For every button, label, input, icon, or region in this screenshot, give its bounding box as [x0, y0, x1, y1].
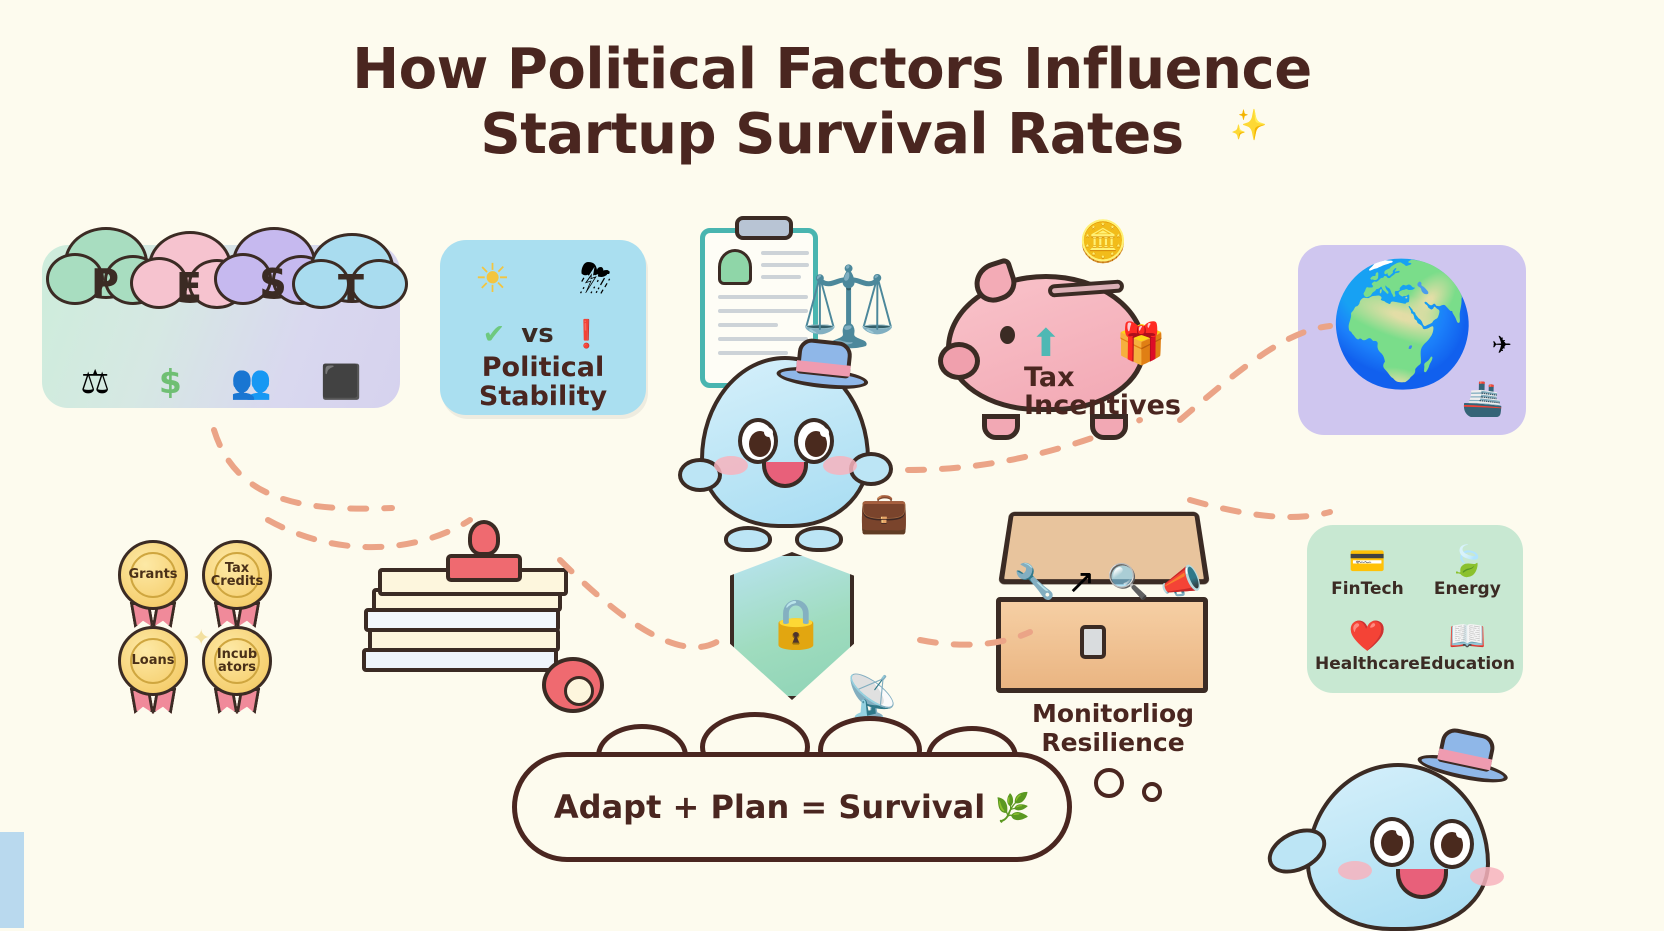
corner-mascot-right-eye	[1430, 819, 1474, 869]
mascot-right-eye	[794, 418, 834, 464]
leaf-icon: 🍃	[1449, 547, 1486, 577]
coin-icon: 🪙	[1078, 222, 1128, 262]
cargo-ship-icon: 🚢	[1462, 379, 1504, 419]
political-stability-card[interactable]: ☀ ⛈ ✔ vs ❗ Political Stability	[440, 240, 646, 415]
corner-mascot-left-cheek	[1338, 861, 1372, 880]
gavel-icon: ⚖	[80, 365, 110, 398]
sector-label: Education	[1420, 654, 1515, 674]
title-line-2: Startup Survival Rates	[480, 102, 1183, 167]
badge-label: Loans	[118, 626, 188, 696]
credit-card-icon: 💳	[1349, 547, 1386, 577]
clipboard-clip-icon	[735, 216, 793, 240]
pest-framework-card[interactable]: P E S T ⚖ $ 👥	[42, 245, 400, 408]
up-arrow-icon: ⬆	[1030, 324, 1062, 362]
briefcase-icon: 💼	[859, 489, 909, 536]
thought-dot-small	[1142, 782, 1162, 802]
corner-mascot-left-eye	[1370, 817, 1414, 867]
mascot-right-foot	[795, 526, 843, 552]
stability-label-line2: Stability	[440, 382, 646, 411]
tax-label-line2: Incentives	[1024, 392, 1174, 420]
globe-heart-icon: 🌍	[1328, 265, 1477, 385]
pest-icon-row: ⚖ $ 👥 ⬛	[42, 365, 400, 398]
infographic-canvas: How Political Factors Influence Startup …	[0, 0, 1664, 928]
lock-icon: 🔒	[766, 600, 826, 648]
vs-label: vs	[521, 319, 553, 349]
mascot-left-eye	[738, 418, 778, 464]
document-stack[interactable]	[358, 540, 598, 705]
badge-label: Incub ators	[202, 626, 272, 696]
sector-energy[interactable]: 🍃 Energy	[1420, 535, 1515, 610]
sparkles-icon: ✨	[1230, 109, 1261, 144]
piggy-eye	[1000, 326, 1015, 344]
corner-mascot-right-cheek	[1470, 867, 1504, 886]
badge-loans[interactable]: Loans	[118, 626, 188, 696]
sector-label: FinTech	[1331, 579, 1404, 599]
mascot-hat-icon	[776, 331, 873, 392]
waving-mascot[interactable]	[1272, 735, 1502, 925]
sector-education[interactable]: 📖 Education	[1420, 610, 1515, 685]
stability-label: Political Stability	[440, 353, 646, 411]
airplane-icon: ✈	[1492, 331, 1512, 359]
funding-badges-group: Grants Tax Credits Loans Incub ators ✦	[118, 540, 288, 695]
heart-icon: ❤️	[1349, 622, 1386, 652]
tax-label-line1: Tax	[1024, 364, 1174, 392]
storm-cloud-icon: ⛈	[579, 256, 611, 302]
sector-label: Energy	[1434, 579, 1501, 599]
toolbox-tools: 🔧 ↗ 🔍 📣	[1008, 513, 1208, 599]
sun-icon: ☀	[475, 256, 511, 302]
accent-bar	[0, 832, 24, 928]
summary-text: Adapt + Plan = Survival	[554, 788, 985, 826]
badge-label: Tax Credits	[202, 540, 272, 610]
rubber-stamp-icon	[446, 520, 522, 582]
global-trade-card[interactable]: 🌍 ✈ 🚢	[1298, 245, 1526, 435]
startup-mascot[interactable]: 💼	[682, 330, 887, 540]
comparison-row: ✔ vs ❗	[440, 318, 646, 350]
growth-arrow-icon: ↗	[1067, 565, 1096, 599]
sector-label: Healthcare	[1315, 654, 1420, 674]
pest-letter-t: T	[292, 267, 410, 311]
piggy-snout	[938, 342, 980, 380]
cloud-wifi-icon: 📡	[846, 676, 898, 718]
official-seal-icon	[718, 249, 752, 285]
mascot-left-cheek	[714, 456, 748, 475]
megaphone-icon: 📣	[1160, 565, 1202, 599]
leaf-icon: 🌿	[995, 791, 1030, 824]
pest-cloud-row: P E S T	[46, 227, 396, 319]
security-shield-group[interactable]: 🔒 📡	[722, 552, 892, 712]
badge-label: Grants	[118, 540, 188, 610]
mascot-right-cheek	[823, 456, 857, 475]
stability-label-line1: Political	[440, 353, 646, 382]
chip-icon: ⬛	[321, 365, 362, 398]
wrench-icon: 🔧	[1014, 565, 1056, 599]
dollar-icon: $	[159, 365, 182, 398]
check-icon: ✔	[483, 319, 506, 350]
resilience-toolbox[interactable]: 🔧 ↗ 🔍 📣 Monitorliog Resilience	[990, 505, 1235, 735]
book-icon: 📖	[1449, 622, 1486, 652]
sector-fintech[interactable]: 💳 FinTech	[1315, 535, 1420, 610]
badge-tax-credits[interactable]: Tax Credits	[202, 540, 272, 610]
title-line-1: How Political Factors Influence	[0, 38, 1664, 103]
people-icon: 👥	[231, 365, 272, 398]
tax-incentives-label: Tax Incentives	[1024, 364, 1174, 421]
warning-icon: ❗	[570, 318, 604, 350]
toolbox-latch-icon	[1080, 625, 1106, 659]
magnifier-icon: 🔍	[1107, 565, 1149, 599]
summary-thought-bubble[interactable]: Adapt + Plan = Survival 🌿	[512, 752, 1072, 862]
mascot-left-foot	[724, 526, 772, 552]
thought-dot-large	[1094, 768, 1124, 798]
red-tape-icon	[542, 657, 604, 713]
page-title: How Political Factors Influence Startup …	[0, 38, 1664, 168]
sector-healthcare[interactable]: ❤️ Healthcare	[1315, 610, 1420, 685]
piggy-bank-tax-incentives[interactable]: 🪙 ⬆ 🎁 Tax Incentives	[938, 246, 1170, 436]
badge-grants[interactable]: Grants	[118, 540, 188, 610]
badge-incubators[interactable]: Incub ators	[202, 626, 272, 696]
sector-card[interactable]: 💳 FinTech 🍃 Energy ❤️ Healthcare 📖 Educa…	[1307, 525, 1523, 693]
sector-grid: 💳 FinTech 🍃 Energy ❤️ Healthcare 📖 Educa…	[1315, 535, 1515, 685]
gift-icon: 🎁	[1116, 324, 1166, 364]
weather-row: ☀ ⛈	[440, 256, 646, 302]
